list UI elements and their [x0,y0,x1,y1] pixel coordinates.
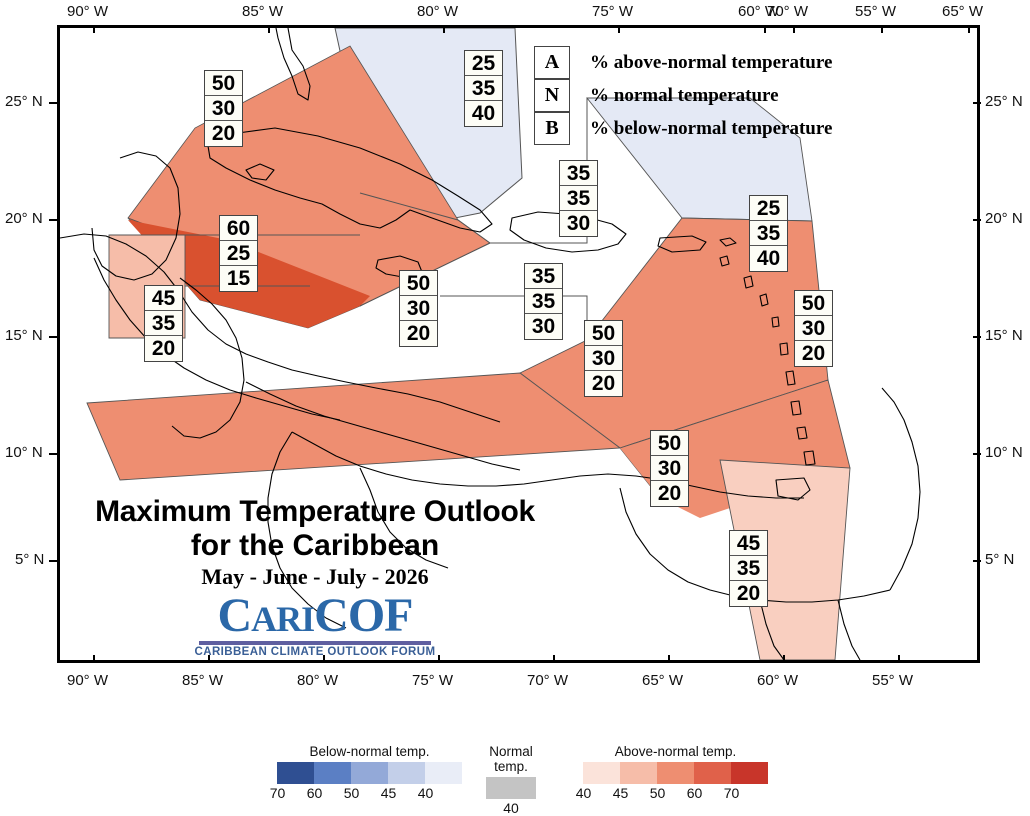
forecast-period: May - June - July - 2026 [80,564,550,590]
colorbar-tick: 60 [296,785,333,801]
y-tick-label: 15° N [5,327,43,344]
prob-normal: 35 [525,289,562,314]
x-tick-mark [783,655,785,663]
y-tick-label: 20° N [5,210,43,227]
prob-above: 50 [585,321,622,346]
prob-below: 30 [560,211,597,236]
prob-normal: 30 [205,96,242,121]
colorbar-tick: 40 [486,800,536,816]
prob-box-nw-cuba-gulf: 50 30 20 [204,70,243,147]
prob-normal: 35 [560,186,597,211]
y-tick-mark [49,560,57,562]
prob-below: 20 [205,121,242,146]
page-title-line2: for the Caribbean [80,529,550,563]
prob-box-venezuela-coast: 50 30 20 [650,430,689,507]
swatch-50 [351,762,388,784]
prob-box-guianas: 45 35 20 [729,530,768,607]
y-tick-label: 25° N [5,93,43,110]
colorbar-swatches [583,762,768,784]
prob-box-belize-guatemala: 45 35 20 [144,285,183,362]
colorbar-title: Above-normal temp. [583,744,768,759]
prob-box-central-caribbean: 50 30 20 [584,320,623,397]
prob-below: 15 [220,266,257,291]
x-tick-label: 75° W [592,3,633,20]
x-tick-mark [553,655,555,663]
prob-box-bahamas: 25 35 40 [464,50,503,127]
swatch-70 [277,762,314,784]
swatch-40 [583,762,620,784]
prob-above: 50 [205,71,242,96]
x-tick-label: 55° W [872,672,913,689]
prob-above: 45 [145,286,182,311]
x-tick-mark [268,25,270,33]
x-tick-label: 80° W [297,672,338,689]
anb-key-a: A [534,46,570,79]
colorbar-tick: 60 [676,785,713,801]
prob-above: 45 [730,531,767,556]
x-tick-label: 75° W [412,672,453,689]
swatch-50 [657,762,694,784]
prob-normal: 30 [400,296,437,321]
prob-normal: 35 [750,221,787,246]
colorbar-above-normal: Above-normal temp. 40 45 50 60 70 [583,744,768,801]
x-tick-mark [881,25,883,33]
colorbar-ticks: 40 [472,800,550,816]
prob-above: 35 [560,161,597,186]
prob-normal: 30 [651,456,688,481]
caricof-logo-ari: ARI [251,599,314,639]
colorbar-ticks: 70 60 50 45 40 [259,785,462,801]
swatch-60 [314,762,351,784]
anb-row-normal: N % normal temperature [534,79,832,112]
prob-above: 50 [651,431,688,456]
x-tick-label: 90° W [67,3,108,20]
x-tick-label-55w-top: 55° W [855,3,896,20]
anb-key-n: N [534,79,570,112]
colorbar-tick: 50 [333,785,370,801]
y-tick-mark [49,336,57,338]
y-tick-label: 25° N [985,93,1023,110]
y-tick-mark [973,453,981,455]
prob-below: 20 [795,341,832,366]
prob-normal: 25 [220,241,257,266]
prob-below: 20 [145,336,182,361]
x-tick-mark [93,25,95,33]
prob-normal: 30 [585,346,622,371]
prob-box-jamaica: 50 30 20 [399,270,438,347]
x-tick-mark [764,25,766,33]
x-tick-mark [898,655,900,663]
swatch-45 [620,762,657,784]
prob-below: 20 [585,371,622,396]
prob-box-hispaniola-north: 35 35 30 [559,160,598,237]
prob-above: 50 [400,271,437,296]
colorbar-tick: 40 [407,785,444,801]
x-tick-label: 85° W [242,3,283,20]
anb-text-n: % normal temperature [590,85,779,107]
anb-text-a: % above-normal temperature [590,52,832,74]
y-tick-mark [49,219,57,221]
colorbar-tick: 50 [639,785,676,801]
caricof-logo: CARICOF CARIBBEAN CLIMATE OUTLOOK FORUM [80,592,550,658]
prob-box-cayman-cuba-south: 60 25 15 [219,215,258,292]
region-central-caribbean-west [87,373,620,480]
colorbar-title: Normal temp. [472,744,550,774]
prob-below: 20 [651,481,688,506]
y-tick-label: 20° N [985,210,1023,227]
caricof-logo-subtitle: CARIBBEAN CLIMATE OUTLOOK FORUM [80,646,550,658]
prob-below: 30 [525,314,562,339]
y-tick-mark [973,336,981,338]
y-tick-mark [49,453,57,455]
swatch-normal-40 [486,777,536,799]
colorbar-ticks: 40 45 50 60 70 [565,785,768,801]
y-tick-mark [973,219,981,221]
x-tick-label: 65° W [642,672,683,689]
prob-box-windward-east: 50 30 20 [794,290,833,367]
colorbar-tick: 45 [602,785,639,801]
anb-legend: A % above-normal temperature N % normal … [534,46,832,145]
prob-above: 25 [465,51,502,76]
caricof-logo-wordmark: CARICOF [80,592,550,640]
prob-normal: 35 [465,76,502,101]
swatch-40 [425,762,462,784]
prob-below: 40 [465,101,502,126]
anb-row-above: A % above-normal temperature [534,46,832,79]
prob-below: 40 [750,246,787,271]
prob-box-hispaniola-south: 35 35 30 [524,263,563,340]
x-tick-mark [793,25,795,33]
colorbar-swatches [472,777,550,799]
x-tick-mark [968,25,970,33]
x-tick-label: 70° W [527,672,568,689]
x-tick-label: 80° W [417,3,458,20]
caricof-logo-c: C [217,589,251,642]
anb-text-b: % below-normal temperature [590,118,832,140]
swatch-60 [694,762,731,784]
prob-above: 60 [220,216,257,241]
x-tick-mark [443,25,445,33]
y-tick-label: 10° N [985,444,1023,461]
colorbar-tick: 45 [370,785,407,801]
prob-above: 25 [750,196,787,221]
x-tick-mark [618,25,620,33]
prob-normal: 35 [730,556,767,581]
x-tick-label: 60° W [757,672,798,689]
colorbar-swatches [277,762,462,784]
page-title: Maximum Temperature Outlook [80,495,550,529]
colorbar-tick: 70 [259,785,296,801]
caricof-logo-cof: COF [314,589,412,642]
prob-below: 20 [730,581,767,606]
x-tick-label: 90° W [67,672,108,689]
y-tick-label: 5° N [985,551,1014,568]
y-tick-label: 5° N [15,551,44,568]
colorbar-tick: 70 [713,785,750,801]
x-tick-label: 85° W [182,672,223,689]
prob-below: 20 [400,321,437,346]
x-tick-mark [668,655,670,663]
colorbar-title: Below-normal temp. [277,744,462,759]
y-tick-label: 10° N [5,444,43,461]
colorbar-normal: Normal temp. 40 [472,744,550,816]
swatch-70 [731,762,768,784]
prob-normal: 35 [145,311,182,336]
anb-row-below: B % below-normal temperature [534,112,832,145]
prob-normal: 30 [795,316,832,341]
prob-above: 35 [525,264,562,289]
prob-box-leeward-north: 25 35 40 [749,195,788,272]
swatch-45 [388,762,425,784]
y-tick-mark [973,560,981,562]
x-tick-label-60w-top: 60° W [738,3,779,20]
title-block: Maximum Temperature Outlook for the Cari… [80,495,550,658]
y-tick-mark [49,102,57,104]
x-tick-label: 65° W [942,3,983,20]
climate-outlook-map: 90° W 85° W 80° W 75° W 70° W 65° W 60° … [0,0,1030,791]
colorbar-below-normal: Below-normal temp. 70 60 50 45 40 [277,744,462,801]
prob-above: 50 [795,291,832,316]
y-tick-mark [973,102,981,104]
colorbar-tick: 40 [565,785,602,801]
y-tick-label: 15° N [985,327,1023,344]
anb-key-b: B [534,112,570,145]
